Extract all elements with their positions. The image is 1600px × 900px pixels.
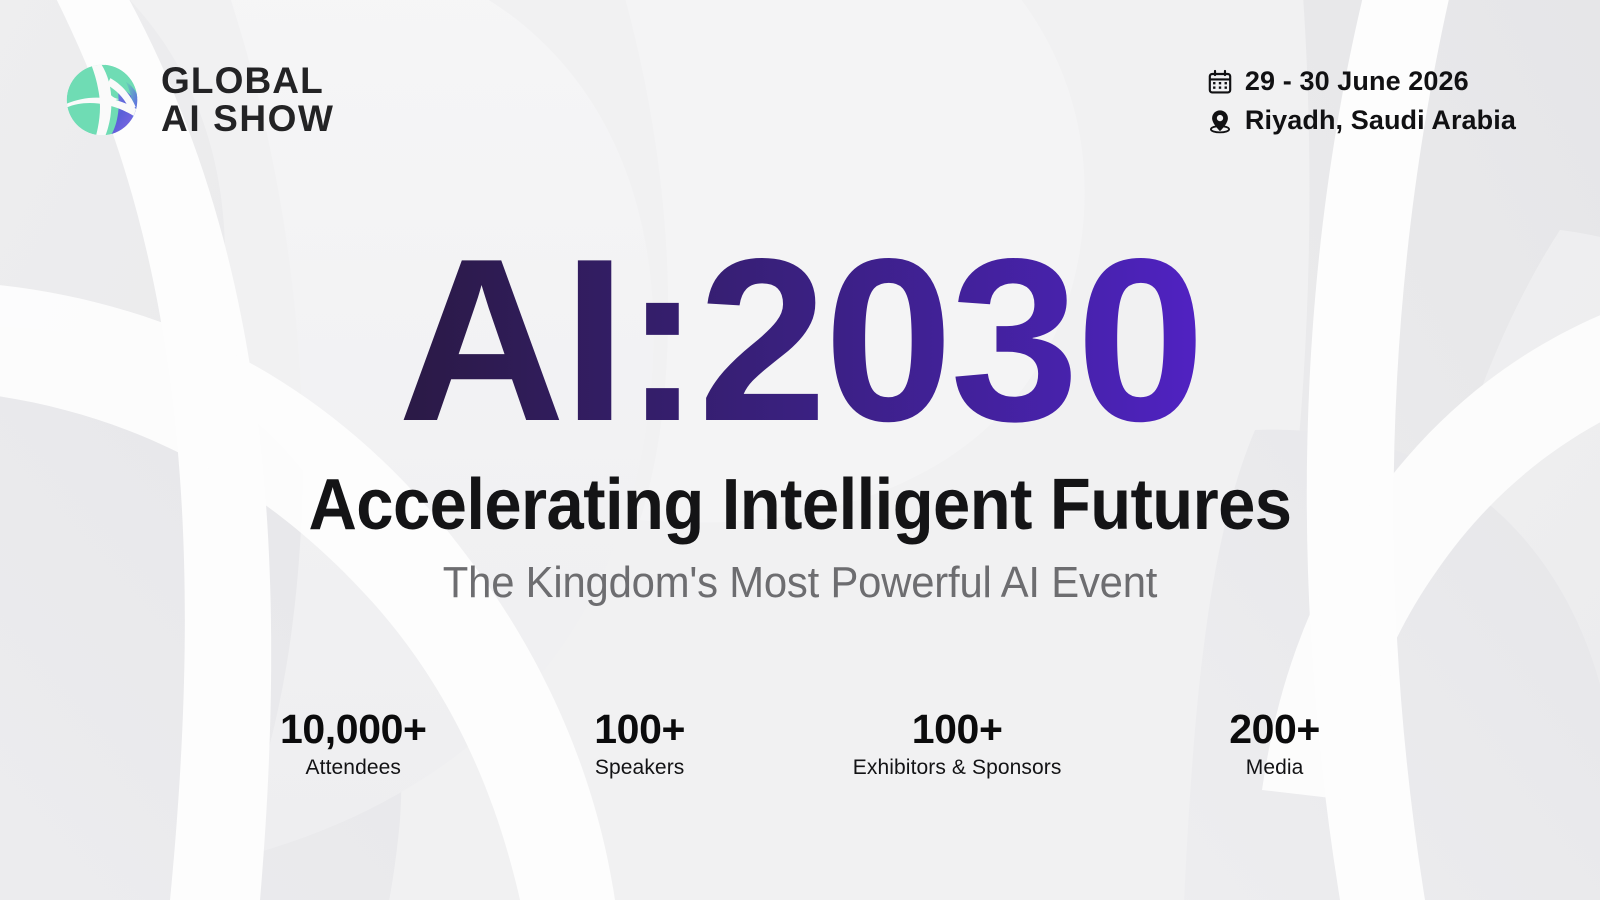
stat-value: 100+ — [594, 708, 685, 751]
banner-header: GLOBAL AI SHOW — [0, 0, 1600, 180]
event-date-text: 29 - 30 June 2026 — [1245, 66, 1469, 97]
event-location-text: Riyadh, Saudi Arabia — [1245, 105, 1516, 136]
event-meta-block: 29 - 30 June 2026 Riyadh, Saudi Arabia — [1207, 66, 1516, 136]
stat-label: Speakers — [595, 756, 685, 779]
stat-item-exhibitors-sponsors: 100+ Exhibitors & Sponsors — [853, 708, 1062, 779]
wordmark-line-global: GLOBAL — [161, 63, 335, 99]
stat-item-speakers: 100+ Speakers — [594, 708, 685, 779]
brand-wordmark: GLOBAL AI SHOW — [161, 63, 335, 137]
stats-row: 10,000+ Attendees 100+ Speakers 100+ Exh… — [280, 708, 1320, 779]
stat-value: 200+ — [1229, 708, 1320, 751]
calendar-icon — [1207, 69, 1233, 95]
stat-item-media: 200+ Media — [1229, 708, 1320, 779]
stat-item-attendees: 10,000+ Attendees — [280, 708, 427, 779]
brand-logo-lockup[interactable]: GLOBAL AI SHOW — [60, 58, 335, 142]
location-pin-icon — [1207, 108, 1233, 134]
stat-label: Attendees — [306, 756, 401, 779]
stat-label: Exhibitors & Sponsors — [853, 756, 1062, 779]
event-banner: GLOBAL AI SHOW — [0, 0, 1600, 900]
globe-sphere-icon — [60, 58, 144, 142]
stat-value: 100+ — [912, 708, 1003, 751]
event-date-row: 29 - 30 June 2026 — [1207, 66, 1469, 97]
stat-label: Media — [1246, 756, 1304, 779]
event-location-row: Riyadh, Saudi Arabia — [1207, 105, 1516, 136]
wordmark-line-ai-show: AI SHOW — [161, 101, 335, 137]
stat-value: 10,000+ — [280, 708, 427, 751]
